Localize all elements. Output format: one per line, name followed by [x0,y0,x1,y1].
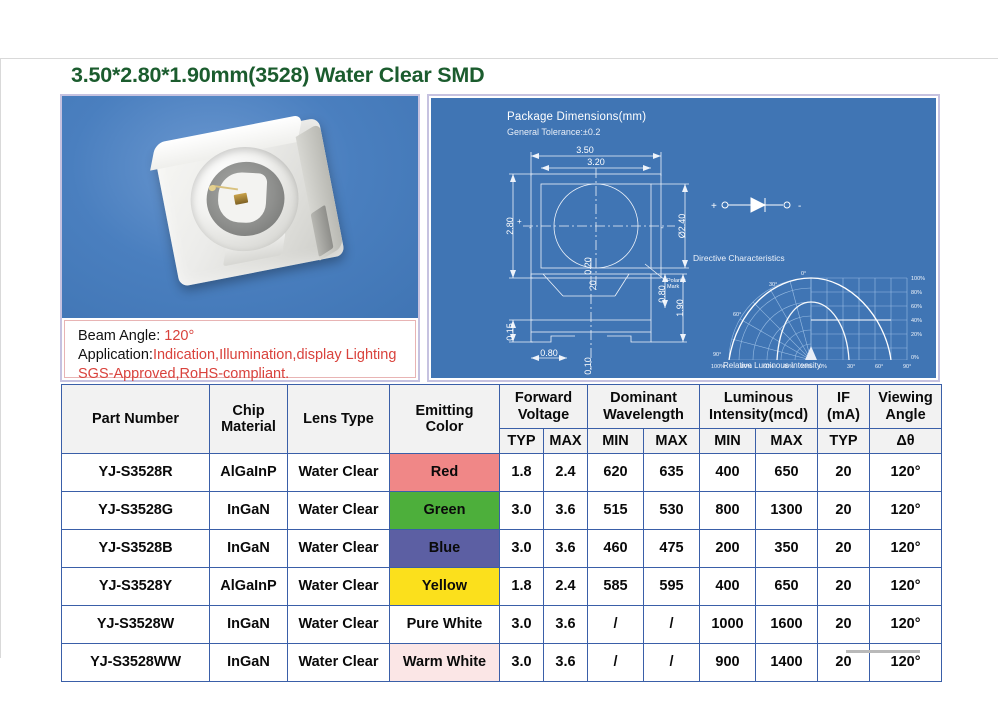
beam-angle-value: 120° [164,328,194,344]
application-value: Indication,Illumination,display Lighting [153,347,396,363]
col-emitting-color: Emitting Color [390,385,500,454]
cell-wl-max: 475 [644,530,700,568]
cell-part-number: YJ-S3528G [62,492,210,530]
svg-text:-: - [529,223,532,232]
dim-3-20: 3.20 [587,157,605,167]
table-row: YJ-S3528WInGaNWater ClearPure White3.03.… [62,606,942,644]
tick-60: 60% [911,304,922,310]
cell-vf-typ: 1.8 [500,454,544,492]
cell-chip-material: AlGaInP [210,454,288,492]
dim-0-80-bottom: 0.80 [540,348,558,358]
cell-emitting-color: Green [390,492,500,530]
drawing-title: Package Dimensions(mm) [507,111,646,123]
cell-iv-min: 900 [700,644,756,682]
cell-iv-max: 650 [756,568,818,606]
pct-40-left: 40% [783,364,794,370]
cell-vf-typ: 3.0 [500,492,544,530]
cell-wl-min: / [588,644,644,682]
cell-iv-min: 200 [700,530,756,568]
cell-iv-min: 400 [700,568,756,606]
cell-chip-material: InGaN [210,492,288,530]
cell-emitting-color: Yellow [390,568,500,606]
specification-table: Part Number Chip Material Lens Type Emit… [61,384,942,682]
cell-chip-material: InGaN [210,606,288,644]
angle-30-right: 30° [847,364,855,370]
cell-wl-max: 635 [644,454,700,492]
cell-emitting-color: Warm White [390,644,500,682]
package-drawing-panel: Package Dimensions(mm) General Tolerance… [427,94,940,382]
cell-viewing-angle: 120° [870,530,942,568]
cell-iv-min: 400 [700,454,756,492]
cell-vf-max: 3.6 [544,530,588,568]
cell-wl-max: / [644,644,700,682]
cell-emitting-color: Blue [390,530,500,568]
cell-wl-max: 530 [644,492,700,530]
angle-0: 0° [801,271,806,277]
cell-wl-min: 515 [588,492,644,530]
cell-wl-min: 585 [588,568,644,606]
cell-if-typ: 20 [818,454,870,492]
dim-0-10: 0.10 [583,357,593,375]
application-label: Application: [78,347,153,363]
subcol-vf-typ: TYP [500,429,544,454]
cell-part-number: YJ-S3528B [62,530,210,568]
subcol-wl-min: MIN [588,429,644,454]
beam-angle-label: Beam Angle: [78,328,164,344]
subcol-iv-max: MAX [756,429,818,454]
table-row: YJ-S3528BInGaNWater ClearBlue3.03.646047… [62,530,942,568]
cell-iv-max: 1400 [756,644,818,682]
product-photo-panel: Beam Angle: 120° Application:Indication,… [60,94,420,382]
col-luminous-intensity: Luminous Intensity(mcd) [700,385,818,429]
anode-label: + [711,201,717,212]
blueprint-canvas: Package Dimensions(mm) General Tolerance… [431,98,936,378]
beam-angle-line: Beam Angle: 120° [78,327,415,346]
cell-vf-typ: 3.0 [500,530,544,568]
application-line: Application:Indication,Illumination,disp… [78,346,415,365]
col-viewing-angle: Viewing Angle [870,385,942,429]
cell-viewing-angle: 120° [870,606,942,644]
cell-vf-max: 2.4 [544,454,588,492]
cell-part-number: YJ-S3528R [62,454,210,492]
compliance-line: SGS-Approved,RoHS-compliant. [78,365,415,384]
cell-lens-type: Water Clear [288,492,390,530]
subcol-wl-max: MAX [644,429,700,454]
cell-lens-type: Water Clear [288,606,390,644]
cell-wl-max: / [644,606,700,644]
subcol-vf-max: MAX [544,429,588,454]
cell-if-typ: 20 [818,568,870,606]
pct-100-left: 100% [711,364,725,370]
cell-vf-max: 3.6 [544,606,588,644]
cell-viewing-angle: 120° [870,492,942,530]
cell-vf-max: 2.4 [544,568,588,606]
cell-lens-type: Water Clear [288,454,390,492]
dim-0-15: 0.15 [505,323,515,341]
product-photo [62,96,418,318]
pct-60-left: 60% [763,364,774,370]
cell-iv-max: 650 [756,454,818,492]
cell-part-number: YJ-S3528W [62,606,210,644]
cell-viewing-angle: 120° [870,454,942,492]
dim-dia-2-40: Ø2.40 [677,214,687,239]
cell-iv-max: 1300 [756,492,818,530]
tick-100: 100% [911,276,925,282]
dim-0-20-side: 0.20 [583,257,593,275]
cell-wl-min: / [588,606,644,644]
tick-0: 0% [911,355,919,361]
subcol-if-typ: TYP [818,429,870,454]
cell-iv-max: 350 [756,530,818,568]
scan-artifact-line [846,650,920,653]
col-dominant-wavelength: Dominant Wavelength [588,385,700,429]
cell-vf-max: 3.6 [544,492,588,530]
cell-emitting-color: Red [390,454,500,492]
pct-80-left: 80% [741,364,752,370]
cell-chip-material: InGaN [210,644,288,682]
dim-2-80: 2.80 [505,217,515,235]
cell-vf-max: 3.6 [544,644,588,682]
angle-90-right: 90° [903,364,911,370]
table-row: YJ-S3528WWInGaNWater ClearWarm White3.03… [62,644,942,682]
col-if: IF (mA) [818,385,870,429]
dim-1-90: 1.90 [675,299,685,317]
cell-lens-type: Water Clear [288,530,390,568]
cell-iv-min: 1000 [700,606,756,644]
svg-text:+: + [517,217,522,226]
tick-40: 40% [911,318,922,324]
side-view-drawing: 0.15 0.80 0.80 1.90 0.10 0.20 [479,250,709,375]
col-part-number: Part Number [62,385,210,454]
drawing-subtitle: General Tolerance:±0.2 [507,127,600,137]
subcol-angle-symbol: Δθ [870,429,942,454]
diode-symbol-icon: + - [703,190,823,220]
page-title: 3.50*2.80*1.90mm(3528) Water Clear SMD [71,63,484,88]
table-header-row-1: Part Number Chip Material Lens Type Emit… [62,385,942,429]
angle-90-left: 90° [713,352,721,358]
cell-wl-max: 595 [644,568,700,606]
cathode-label: - [798,201,801,212]
cell-vf-typ: 3.0 [500,644,544,682]
product-description-box: Beam Angle: 120° Application:Indication,… [64,320,416,378]
cell-iv-min: 800 [700,492,756,530]
cell-part-number: YJ-S3528Y [62,568,210,606]
cell-wl-min: 620 [588,454,644,492]
cell-part-number: YJ-S3528WW [62,644,210,682]
cell-chip-material: AlGaInP [210,568,288,606]
angle-60-left: 60° [733,312,741,318]
directive-characteristics-chart: 100% 80% 60% 40% 20% 0% 0° 30° 60° 90° 1… [689,264,933,378]
cell-if-typ: 20 [818,492,870,530]
cell-viewing-angle: 120° [870,568,942,606]
pct-0-left: 0% [819,364,827,370]
tick-80: 80% [911,290,922,296]
tick-20: 20% [911,332,922,338]
cell-iv-max: 1600 [756,606,818,644]
table-row: YJ-S3528RAlGaInPWater ClearRed1.82.46206… [62,454,942,492]
table-row: YJ-S3528GInGaNWater ClearGreen3.03.65155… [62,492,942,530]
cell-lens-type: Water Clear [288,568,390,606]
table-row: YJ-S3528YAlGaInPWater ClearYellow1.82.45… [62,568,942,606]
smd-led-package-icon [144,110,357,303]
subcol-iv-min: MIN [700,429,756,454]
cell-wl-min: 460 [588,530,644,568]
svg-text:-: - [661,223,664,232]
pct-20-left: 20% [801,364,812,370]
cell-if-typ: 20 [818,530,870,568]
col-chip-material: Chip Material [210,385,288,454]
cell-chip-material: InGaN [210,530,288,568]
angle-30-left: 30° [769,282,777,288]
cell-emitting-color: Pure White [390,606,500,644]
dim-0-80-right: 0.80 [657,285,667,303]
angle-60-right: 60° [875,364,883,370]
cell-lens-type: Water Clear [288,644,390,682]
dim-3-50: 3.50 [576,145,594,155]
col-forward-voltage: Forward Voltage [500,385,588,429]
cell-vf-typ: 3.0 [500,606,544,644]
cell-vf-typ: 1.8 [500,568,544,606]
col-lens-type: Lens Type [288,385,390,454]
cell-if-typ: 20 [818,606,870,644]
